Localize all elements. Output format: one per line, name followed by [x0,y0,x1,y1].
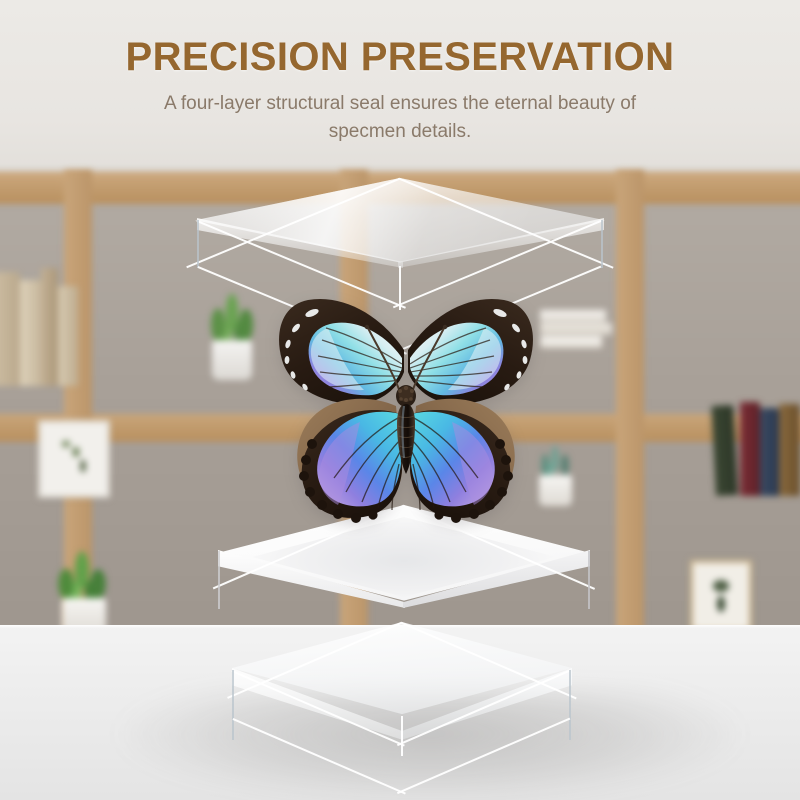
right-wings [408,299,533,523]
acrylic-base-layer [232,622,572,772]
header: PRECISION PRESERVATION A four-layer stru… [0,36,800,145]
page-subtitle: A four-layer structural seal ensures the… [140,90,660,145]
lid-highlight [195,178,605,274]
base-top-face [232,622,572,718]
left-wings [279,299,404,523]
product-marketing-image: PRECISION PRESERVATION A four-layer stru… [0,0,800,800]
butterfly-specimen [268,288,544,536]
page-title: PRECISION PRESERVATION [0,36,800,78]
